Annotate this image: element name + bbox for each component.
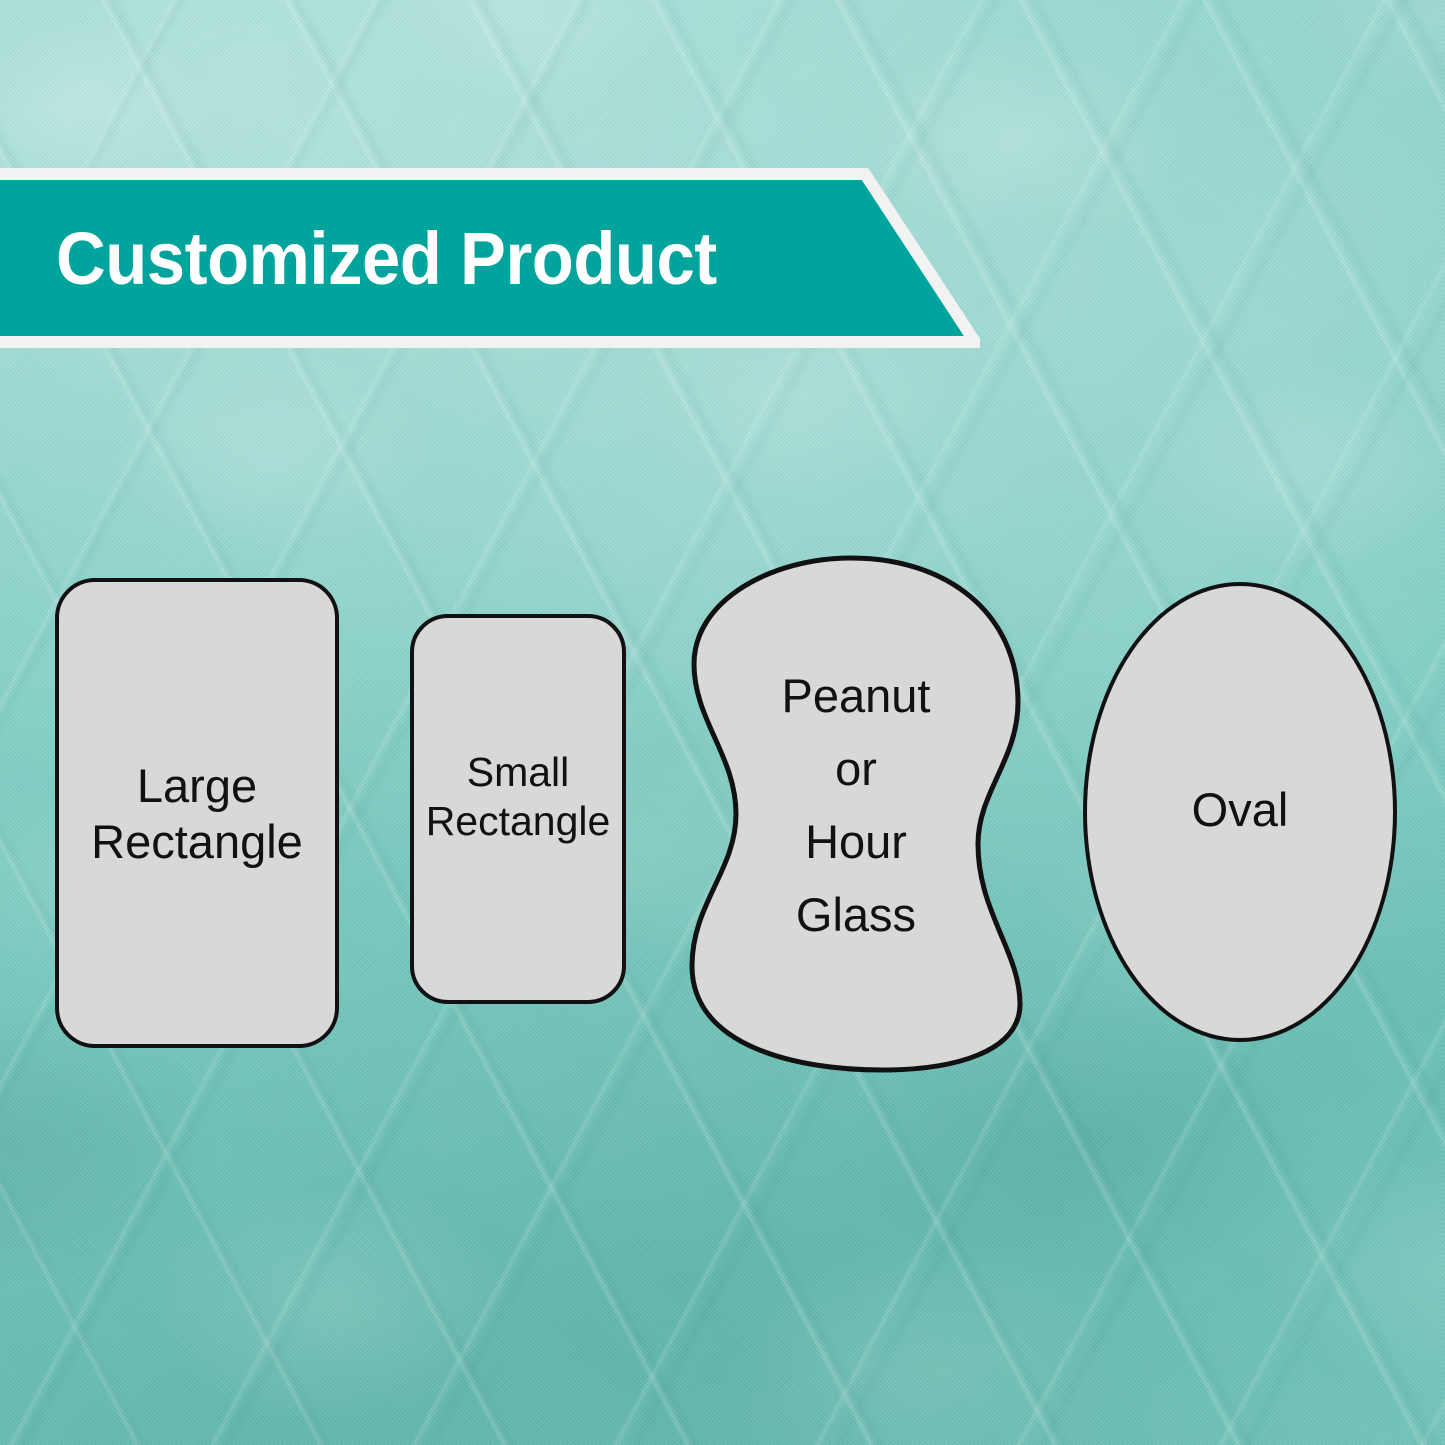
shape-label-large-rectangle: Large Rectangle: [59, 758, 335, 871]
shape-large-rectangle[interactable]: Large Rectangle: [55, 578, 339, 1048]
peanut-outline-icon: [686, 552, 1026, 1076]
shape-label-small-rectangle: Small Rectangle: [414, 748, 622, 846]
shape-label-oval: Oval: [1087, 782, 1393, 838]
product-shape-options-graphic: Customized Product Large Rectangle Small…: [0, 0, 1445, 1445]
banner-title: Customized Product: [56, 168, 717, 348]
shape-peanut-hourglass[interactable]: Peanut or Hour Glass: [686, 552, 1026, 1076]
shape-oval[interactable]: Oval: [1083, 582, 1397, 1042]
banner: Customized Product: [0, 168, 980, 348]
shape-small-rectangle[interactable]: Small Rectangle: [410, 614, 626, 1004]
